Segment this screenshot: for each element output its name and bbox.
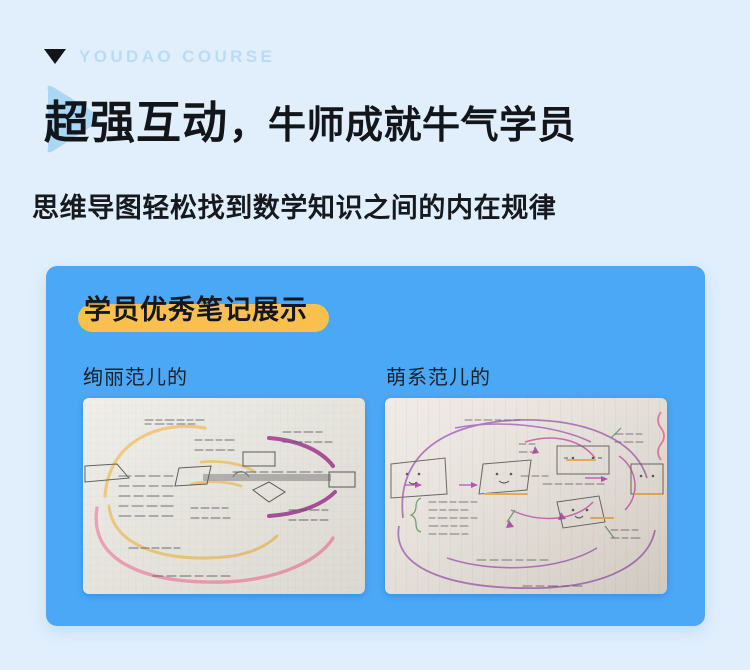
notes-showcase-card: 学员优秀笔记展示 绚丽范儿的 萌系范儿的: [46, 266, 705, 626]
page-title: 超强互动 ， 牛师成就牛气学员: [44, 86, 576, 163]
note-image-left[interactable]: [83, 398, 365, 594]
mindmap-photo-lined-paper: [385, 398, 667, 594]
eyebrow-label: YOUDAO COURSE: [79, 48, 275, 65]
note-caption-right: 萌系范儿的: [386, 361, 491, 390]
headline-part1: 超强互动: [44, 86, 228, 160]
section-badge: 学员优秀笔记展示: [78, 286, 308, 334]
headline-block: 超强互动 ， 牛师成就牛气学员: [44, 86, 576, 160]
triangle-down-icon: [44, 49, 66, 64]
headline-part2: 牛师成就牛气学员: [268, 89, 576, 163]
note-caption-left: 绚丽范儿的: [83, 361, 188, 390]
badge-label: 学员优秀笔记展示: [78, 295, 308, 325]
promo-page: YOUDAO COURSE 超强互动 ， 牛师成就牛气学员 思维导图轻松找到数学…: [0, 0, 750, 670]
mindmap-photo-grid-paper: [83, 398, 365, 594]
page-subtitle: 思维导图轻松找到数学知识之间的内在规律: [32, 186, 556, 225]
eyebrow: YOUDAO COURSE: [44, 48, 275, 65]
note-image-right[interactable]: [385, 398, 667, 594]
headline-comma: ，: [228, 89, 268, 163]
